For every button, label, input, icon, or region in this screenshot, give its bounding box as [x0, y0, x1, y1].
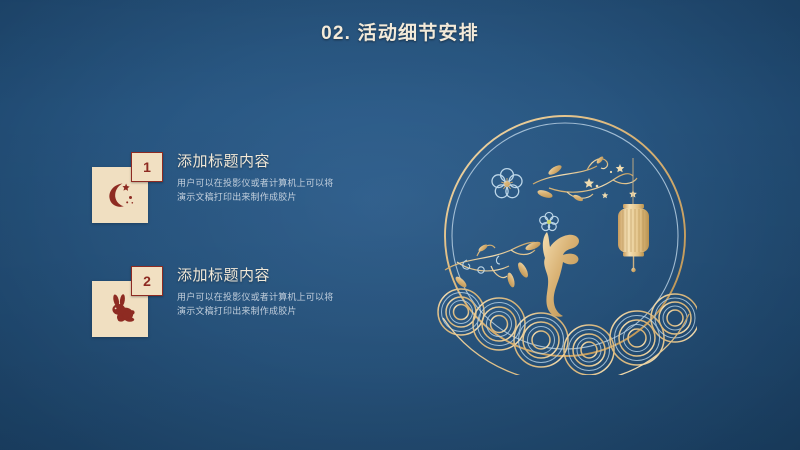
badge-number-1: 1: [131, 152, 163, 182]
block-body-1: 用户可以在投影仪或者计算机上可以将演示文稿打印出来制作成胶片: [177, 176, 342, 204]
plum-blossom-small: [540, 212, 559, 230]
ornament-svg: [437, 100, 697, 375]
page-title: 02. 活动细节安排: [0, 18, 800, 45]
block-title-2: 添加标题内容: [177, 266, 342, 286]
text-column-2: 添加标题内容 用户可以在投影仪或者计算机上可以将演示文稿打印出来制作成胶片: [177, 266, 342, 318]
text-column-1: 添加标题内容 用户可以在投影仪或者计算机上可以将演示文稿打印出来制作成胶片: [177, 152, 342, 204]
branch-left-leaves: [454, 240, 542, 289]
cloud-rings: [438, 289, 697, 375]
block-title-1: 添加标题内容: [177, 152, 342, 172]
rabbit-silhouette: [543, 232, 579, 317]
block-body-2: 用户可以在投影仪或者计算机上可以将演示文稿打印出来制作成胶片: [177, 290, 342, 318]
plum-blossom-large: [492, 169, 522, 198]
badge-number-2: 2: [131, 266, 163, 296]
mid-autumn-ornament: [437, 100, 697, 375]
slide-canvas: 02. 活动细节安排 1 添加标题内容 用户可以在投影仪或者计算机上可以将演示文…: [0, 0, 800, 450]
